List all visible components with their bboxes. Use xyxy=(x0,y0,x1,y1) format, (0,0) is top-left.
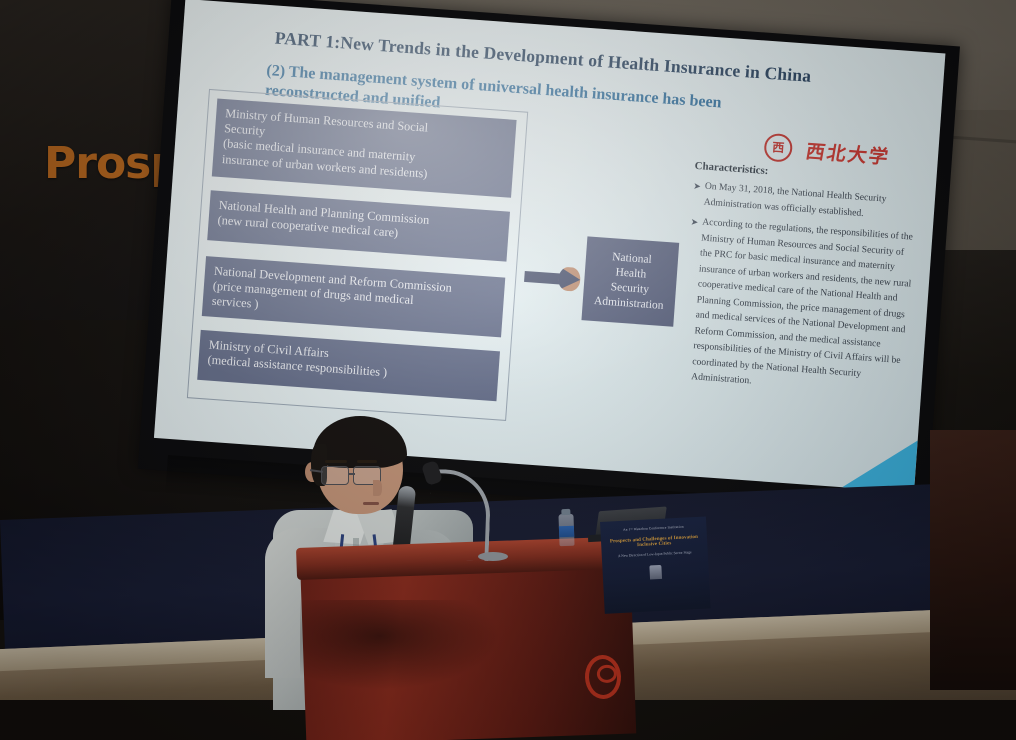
org-box-civil-affairs: Ministry of Civil Affairs (medical assis… xyxy=(197,330,500,401)
result-box-nhsa: National Health Security Administration xyxy=(581,236,679,326)
lectern-shadow xyxy=(300,600,500,690)
org-box-mohrss: Ministry of Human Resources and Social S… xyxy=(212,99,517,198)
mouth xyxy=(363,502,379,505)
right-wooden-column xyxy=(930,430,1016,690)
slide-corner-accent xyxy=(842,435,918,492)
eyeglasses-lens-left xyxy=(321,466,349,485)
banner-crest-icon xyxy=(649,565,662,580)
eyebrow-left xyxy=(325,460,347,463)
bottle-cap xyxy=(561,509,570,515)
microphone-base xyxy=(478,552,508,561)
org-boxes-container: Ministry of Human Resources and Social S… xyxy=(187,89,528,421)
banner-line-1: An 1⁵ᵗ Wenzhou Conference Institution xyxy=(605,524,701,533)
arrow-head xyxy=(558,266,582,292)
right-arrow-icon xyxy=(524,264,582,292)
conference-presentation-photo: Prospe PART 1:New Trends in the Developm… xyxy=(0,0,1016,740)
conference-banner: An 1⁵ᵗ Wenzhou Conference Institution Pr… xyxy=(600,516,711,613)
banner-line-2: Prospects and Challenges of Innovation I… xyxy=(606,535,702,550)
nose xyxy=(373,480,382,496)
org-box-nhfpc: National Health and Planning Commission … xyxy=(207,190,510,261)
characteristics-item: ➤ According to the regulations, the resp… xyxy=(679,214,917,401)
university-name-calligraphy: 西北大学 xyxy=(804,136,893,169)
bottle-label xyxy=(559,526,574,538)
bullet-arrow-icon: ➤ xyxy=(692,178,702,210)
slide-logos: 西 西北大学 xyxy=(763,133,891,170)
eyeglasses-bridge xyxy=(348,473,355,475)
eyebrow-right xyxy=(357,460,377,463)
banner-line-3: A New Direction of Low-Input Public Sect… xyxy=(607,550,703,559)
org-box-ndrc: National Development and Reform Commissi… xyxy=(202,256,506,337)
water-bottle xyxy=(558,514,574,547)
result-box-line: Administration xyxy=(593,294,664,314)
university-seal-icon: 西 xyxy=(763,133,793,163)
arrow-shaft xyxy=(524,271,561,285)
characteristics-column: Characteristics: ➤ On May 31, 2018, the … xyxy=(679,160,921,405)
characteristics-item-text: According to the regulations, the respon… xyxy=(691,215,917,401)
